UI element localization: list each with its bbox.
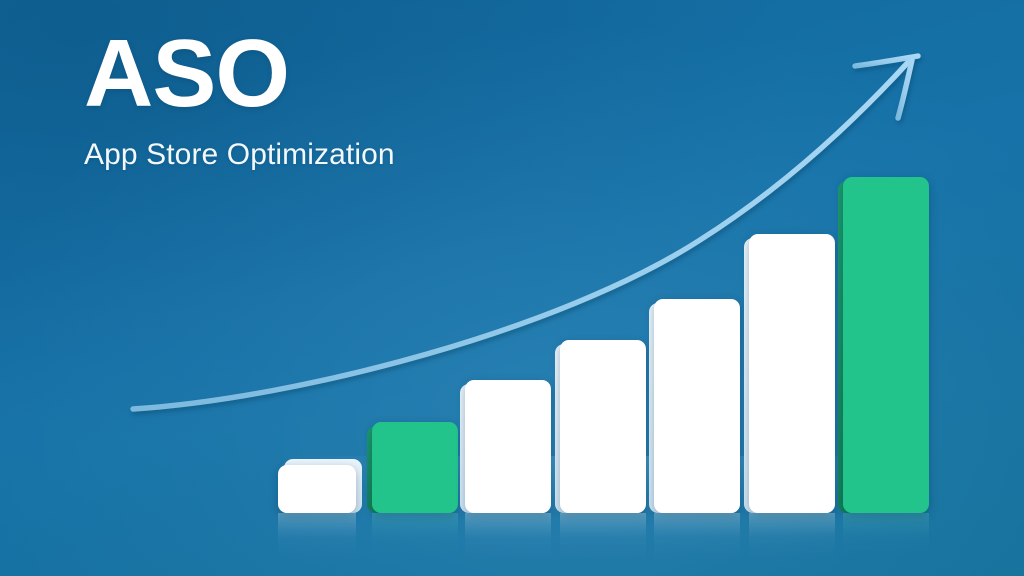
bar-chart [0, 0, 1024, 576]
arrow-strokes [133, 56, 918, 409]
arrow-shaft [133, 58, 912, 409]
growth-arrow [0, 0, 1024, 576]
slide-canvas: ASO App Store Optimization [0, 0, 1024, 576]
